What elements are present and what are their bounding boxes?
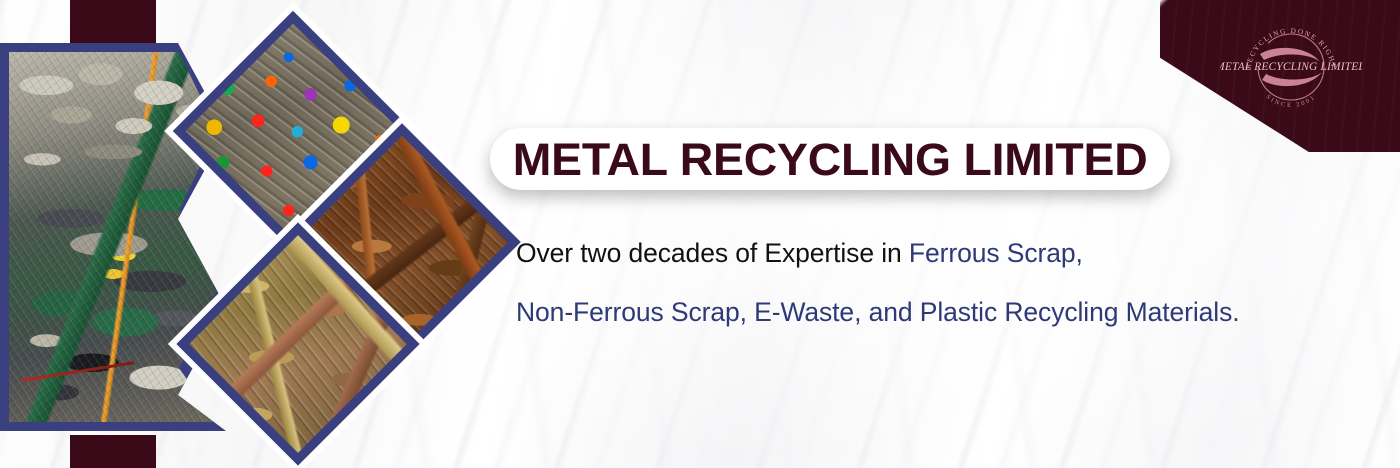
company-logo: RECYCLING DONE RIGHT SINCE 2001 METAL RE…	[1220, 18, 1362, 116]
hero-banner: RECYCLING DONE RIGHT SINCE 2001 METAL RE…	[0, 0, 1400, 468]
subtitle-line-1-accent: Ferrous Scrap,	[909, 238, 1083, 268]
left-photo-image	[9, 52, 217, 422]
maroon-accent-block-top	[70, 0, 156, 44]
page-title: METAL RECYCLING LIMITED	[513, 137, 1148, 182]
headline-pill: METAL RECYCLING LIMITED	[490, 128, 1170, 190]
svg-text:SINCE 2001: SINCE 2001	[1265, 93, 1318, 109]
subtitle-line-1-plain: Over two decades of Expertise in	[516, 238, 909, 268]
subtitle-block: Over two decades of Expertise in Ferrous…	[516, 224, 1396, 342]
subtitle-line-2-accent: Non-Ferrous Scrap, E-Waste, and Plastic …	[516, 297, 1240, 327]
maroon-accent-block-bottom	[70, 435, 156, 468]
subtitle-line-1: Over two decades of Expertise in Ferrous…	[516, 224, 1396, 283]
logo-arc-bottom-text: SINCE 2001	[1265, 93, 1318, 109]
subtitle-line-2: Non-Ferrous Scrap, E-Waste, and Plastic …	[516, 283, 1396, 342]
logo-name-text: METAL RECYCLING LIMITED	[1220, 61, 1362, 73]
